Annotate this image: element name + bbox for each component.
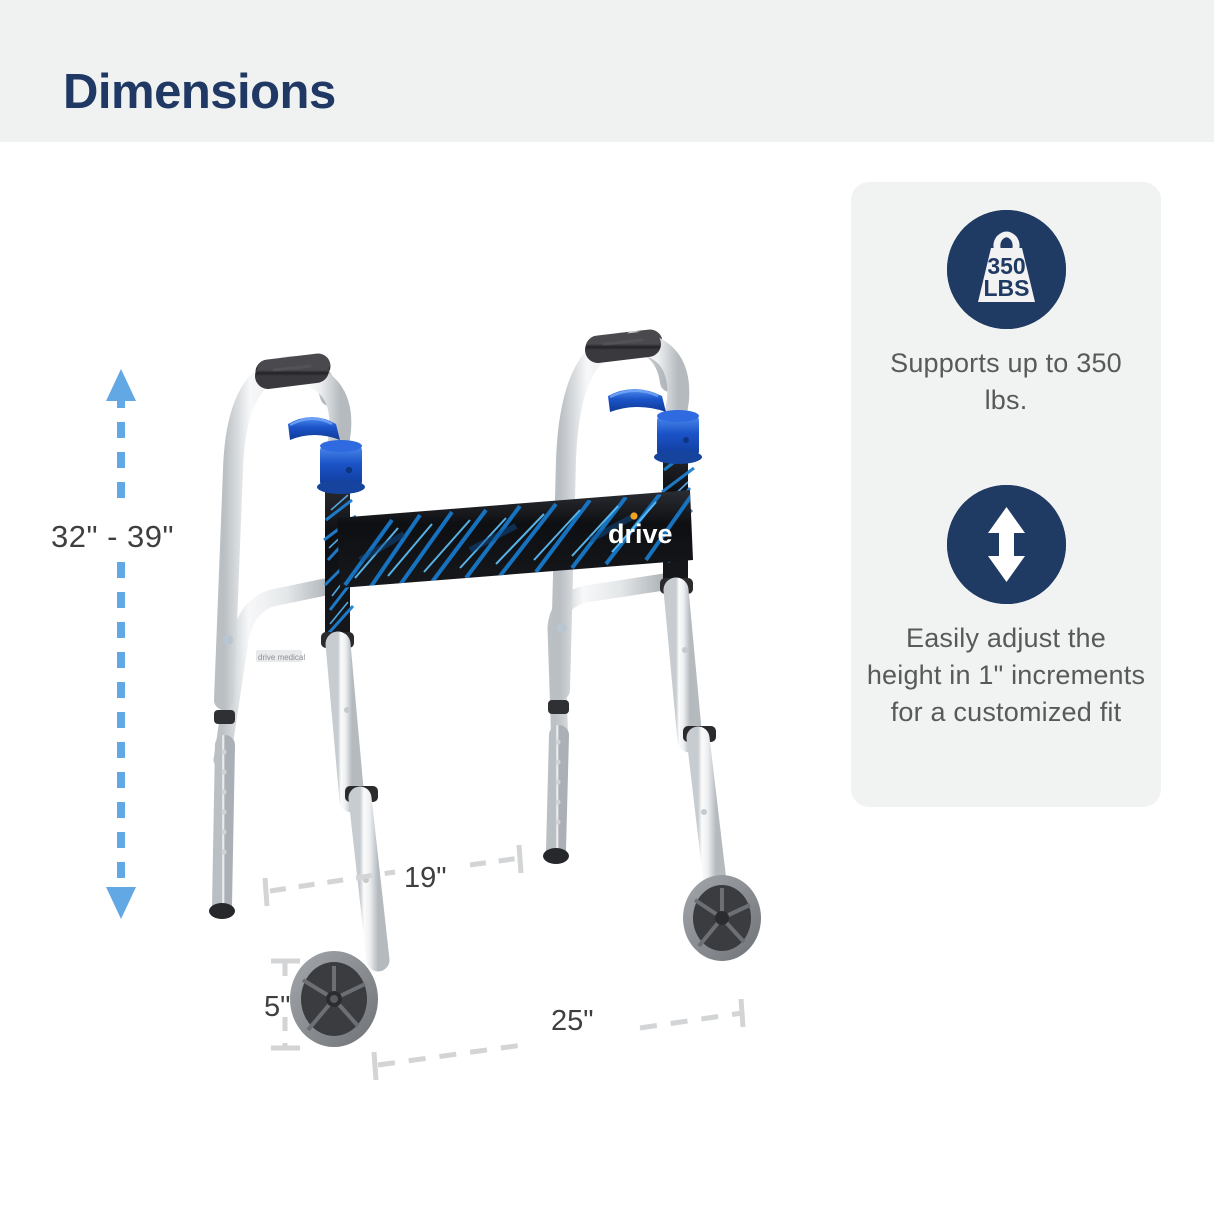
dimensions-infographic: Dimensions: [0, 0, 1214, 1214]
feature-weight-text: Supports up to 350 lbs.: [851, 345, 1161, 419]
dimension-label-depth: 19": [404, 862, 447, 895]
front-left-release-lever: [288, 417, 365, 494]
front-right-wheel: [683, 875, 761, 961]
feature-adjust-text: Easily adjust the height in 1" increment…: [851, 620, 1161, 731]
svg-text:drive medical: drive medical: [258, 653, 305, 662]
badge-value-lbs: LBS: [983, 275, 1029, 301]
dimension-label-wheel-height: 5": [264, 991, 290, 1024]
crossbar: drive: [337, 490, 694, 588]
vertical-double-arrow-icon: [947, 485, 1066, 604]
front-right-grip: [598, 340, 648, 350]
feature-height-adjust: Easily adjust the height in 1" increment…: [851, 485, 1161, 731]
feature-panel: 350 LBS Supports up to 350 lbs. Easily a…: [851, 182, 1161, 807]
dimension-label-width: 25": [551, 1005, 594, 1038]
front-left-grip: [268, 366, 316, 376]
brand-logo-text: drive: [608, 519, 673, 549]
weight-350lbs-icon: 350 LBS: [947, 210, 1066, 329]
dimension-label-height: 32" - 39": [51, 519, 174, 555]
feature-weight-capacity: 350 LBS Supports up to 350 lbs.: [851, 210, 1161, 419]
front-left-wheel: [290, 951, 378, 1047]
